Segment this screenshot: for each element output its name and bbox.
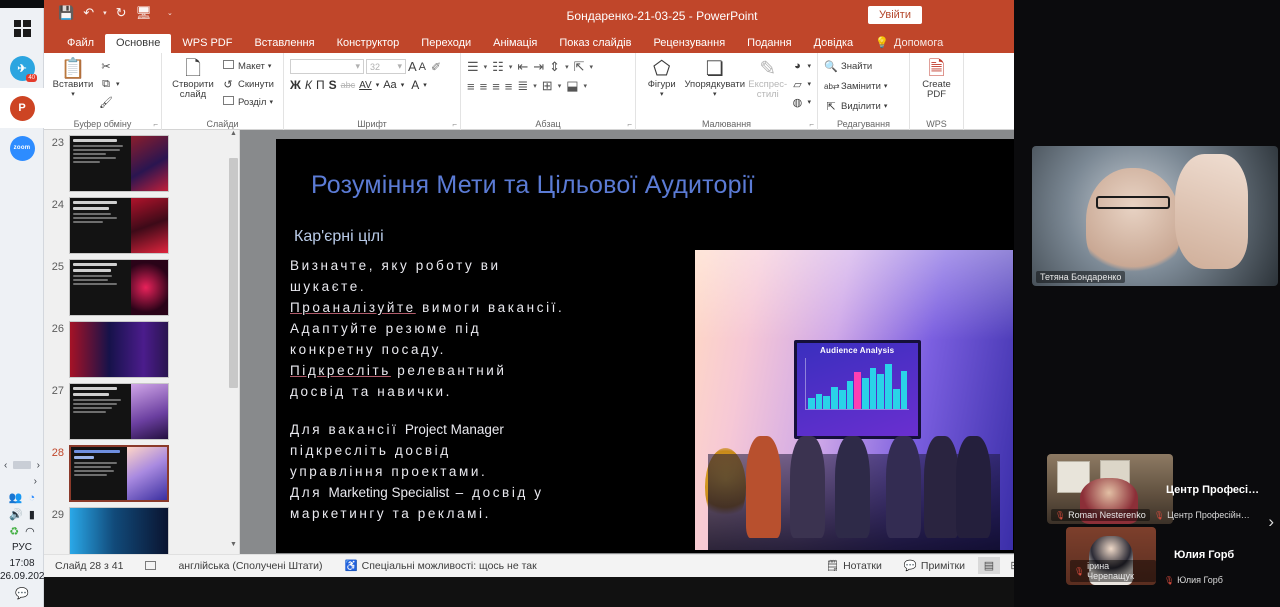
section-dropdown-icon[interactable]: ▾ [269, 98, 273, 106]
arrange-button[interactable]: ❏ Упорядкувати ▾ [684, 56, 745, 98]
paste-label: Вставити [53, 80, 94, 90]
reset-icon: ↺ [221, 78, 235, 91]
scrollbar-thumb[interactable] [229, 158, 238, 388]
tab-help[interactable]: Довідка [803, 34, 865, 53]
font-color-dropdown-icon[interactable]: ▾ [423, 81, 427, 89]
slide-photo-audience-analysis[interactable]: Audience Analysis [695, 250, 1013, 550]
quick-access-toolbar: 💾 ↶ ▾ ↻ 🖥 ⌄ [58, 6, 173, 19]
font-dialog-launcher[interactable]: ⌐ [452, 120, 457, 129]
copy-icon: ⧉ [99, 78, 113, 91]
line-spacing-button[interactable]: ⇕ [549, 59, 560, 75]
case-dropdown-icon[interactable]: ▾ [401, 81, 405, 89]
fill-icon: ◕ [790, 60, 804, 72]
slide-thumb-27[interactable]: 27 [44, 378, 239, 440]
start-button[interactable] [0, 8, 44, 48]
participant-name-overlay: 🎙 Roman Nesterenko [1051, 509, 1150, 521]
ribbon-group-clipboard: 📋 Вставити ▾ ✂ ⧉ ▾ 🖌 [44, 53, 162, 130]
quick-styles-label: Експрес-стилі [748, 80, 787, 100]
smartart-dropdown-icon[interactable]: ▾ [584, 82, 588, 90]
section-label: Розділ [238, 97, 266, 108]
slide-number: 29 [50, 507, 64, 521]
layout-label: Макет [238, 61, 265, 72]
ribbon-group-drawing: ⬠ Фігури ▾ ❏ Упорядкувати ▾ ✎ Експрес-ст… [636, 53, 818, 130]
select-label: Виділити [841, 101, 881, 112]
tab-transitions[interactable]: Переходи [410, 34, 482, 53]
scroll-down-arrow-icon[interactable]: ▼ [228, 541, 239, 554]
slide-thumbnail-pane[interactable]: 23 24 25 26 [44, 130, 240, 554]
shape-outline-button[interactable]: ▱▾ [790, 76, 811, 92]
justify-button[interactable]: ≡ [505, 79, 513, 94]
comments-button[interactable]: 💬 Примітки [893, 559, 976, 572]
shapes-icon: ⬠ [653, 58, 670, 80]
participant-list-name-center[interactable]: Центр Професі… [1166, 484, 1259, 496]
reset-label: Скинути [238, 79, 274, 90]
numbering-dropdown-icon[interactable]: ▾ [509, 63, 513, 71]
line-spacing-dropdown-icon[interactable]: ▾ [565, 63, 569, 71]
align-center-button[interactable]: ≡ [480, 79, 488, 94]
body1-line1b: шукаєте. [290, 279, 366, 294]
redo-icon[interactable]: ↻ [116, 6, 127, 19]
slide-thumbnail[interactable] [69, 383, 169, 440]
layout-icon [223, 60, 234, 69]
language-indicator[interactable]: РУС [0, 541, 44, 554]
shadow-button[interactable]: S [329, 78, 337, 92]
undo-dropdown-icon[interactable]: ▾ [103, 9, 107, 17]
slide-number: 27 [50, 383, 64, 397]
align-left-button[interactable]: ≡ [467, 79, 475, 94]
new-slide-icon: 🗋 [185, 58, 201, 80]
quick-styles-button[interactable]: ✎ Експрес-стилі [748, 56, 787, 100]
create-pdf-label: Create PDF [916, 80, 957, 100]
align-text-dropdown-icon[interactable]: ▾ [558, 82, 562, 90]
taskbar-item-telegram[interactable]: ✈ 40 [0, 48, 44, 88]
body1-line4-rest: релевантний [391, 363, 507, 378]
cursor-icon: ⇱ [824, 100, 838, 113]
slide-thumb-29[interactable]: 29 [44, 502, 239, 554]
participant-list-sub-yulia[interactable]: 🎙 Юлия Горб [1164, 575, 1223, 585]
group-title-wps: WPS [910, 119, 963, 129]
group-title-paragraph: Абзац [461, 119, 635, 129]
body1-line3a: Адаптуйте резюме під [290, 321, 481, 336]
photo-person [924, 436, 959, 538]
text-direction-button[interactable]: ⇱ [574, 59, 585, 75]
main-participant-name: Тетяна Бондаренко [1040, 272, 1121, 282]
body1-line3b: конкретну посаду. [290, 342, 446, 357]
align-right-button[interactable]: ≡ [492, 79, 500, 94]
group-title-editing: Редагування [818, 119, 909, 129]
accessibility-status[interactable]: ♿ Спеціальні можливості: щось не так [334, 559, 548, 572]
ceiling-gradient [695, 250, 1013, 340]
ribbon-group-wps: 🗎 Create PDF WPS [910, 53, 964, 130]
mic-muted-icon: 🎙 [1074, 567, 1084, 576]
tab-wps-pdf[interactable]: WPS PDF [171, 34, 243, 53]
photo-bar-chart [805, 358, 909, 410]
reset-button[interactable]: ↺ Скинути [221, 76, 274, 92]
tell-me-label: Допомога [894, 37, 943, 49]
language-status[interactable]: англійська (Сполучені Штати) [167, 560, 333, 572]
font-size-value: 32 [370, 62, 380, 72]
replace-button[interactable]: ab⇄ Замінити ▾ [824, 78, 887, 94]
start-presentation-icon[interactable]: 🖥 [136, 6, 153, 19]
body2-line1-latin: Project Manager [405, 422, 504, 437]
replace-label: Замінити [841, 81, 881, 92]
powerpoint-icon: P [10, 96, 35, 121]
slide-body-text-1[interactable]: Визначте, яку роботу ви шукаєте. Проанал… [290, 255, 710, 402]
body2-line5: маркетингу та рекламі. [290, 506, 491, 521]
smartart-button[interactable]: ⬓ [566, 78, 578, 94]
body1-line4-underlined: Підкресліть [290, 363, 391, 378]
copy-dropdown-icon[interactable]: ▾ [116, 80, 120, 88]
search-icon: 🔍 [824, 60, 838, 73]
body1-line2-underlined: Проаналізуйте [290, 300, 416, 315]
taskbar-top-strip [0, 0, 44, 8]
slide-thumbnail[interactable] [69, 259, 169, 316]
volume-icon[interactable]: 🔊 [9, 510, 23, 521]
slide-body-text-2[interactable]: Для вакансії Project Manager підкресліть… [290, 419, 720, 524]
tab-animations[interactable]: Анімація [482, 34, 548, 53]
columns-dropdown-icon[interactable]: ▾ [533, 82, 537, 90]
video-tile-iryna[interactable]: 🎙 ірина Черепащук [1066, 527, 1156, 585]
save-icon[interactable]: 💾 [58, 6, 74, 19]
photo-person [886, 436, 921, 538]
thumbnail-scrollbar[interactable]: ▲ ▼ [228, 130, 239, 554]
participant-list-sub-center[interactable]: 🎙 Центр Професійн… [1154, 510, 1250, 520]
tray-overflow-row[interactable]: ‹ › [0, 457, 44, 473]
teams-tray-icon[interactable]: 👥 [9, 493, 23, 504]
clear-formatting-button[interactable]: ✐ [431, 60, 441, 74]
windows-logo-icon [14, 20, 31, 37]
decrease-indent-button[interactable]: ⇤ [517, 59, 528, 75]
slide-number: 26 [50, 321, 64, 335]
effects-icon: ◍ [790, 96, 804, 109]
slide-thumb-23[interactable]: 23 [44, 130, 239, 192]
shape-fill-button[interactable]: ◕▾ [790, 58, 811, 74]
slide-thumb-26[interactable]: 26 [44, 316, 239, 378]
shapes-label: Фігури [648, 80, 676, 90]
tab-review[interactable]: Рецензування [642, 34, 736, 53]
tray-expand-icon[interactable]: › [34, 476, 37, 487]
participant-name-overlay: Тетяна Бондаренко [1036, 271, 1125, 283]
photo-person [956, 436, 991, 538]
underline-button[interactable]: П [316, 78, 325, 92]
increase-indent-button[interactable]: ⇥ [533, 59, 544, 75]
slide-number: 25 [50, 259, 64, 273]
shapes-button[interactable]: ⬠ Фігури ▾ [642, 56, 681, 98]
zoom-tray-icon[interactable]: ◔ [29, 493, 36, 504]
scroll-up-arrow-icon[interactable]: ▲ [228, 130, 239, 143]
cut-button[interactable]: ✂ [99, 58, 120, 74]
body1-line5: досвід та навички. [290, 384, 452, 399]
ribbon-group-paragraph: ☰▾ ☷▾ ⇤ ⇥ ⇕▾ ⇱▾ ≡ ≡ ≡ ≡ ≣▾ ⊞▾ ⬓▾ [461, 53, 636, 130]
system-tray: ‹ › › 👥 ◔ 🔊 ▮ ♻ ◠ РУС 17:08 26.09.202 [0, 457, 44, 607]
body1-line2-rest: вимоги вакансії. [416, 300, 565, 315]
battery-icon[interactable]: ▮ [29, 510, 35, 521]
body2-line4a: Для [290, 485, 328, 500]
spacing-dropdown-icon[interactable]: ▾ [376, 81, 380, 89]
mic-muted-icon: 🎙 [1154, 511, 1164, 520]
lightbulb-icon: 💡 [875, 36, 889, 49]
participant-tile-name: Roman Nesterenko [1068, 510, 1146, 520]
slide-thumbnail[interactable] [69, 135, 169, 192]
scissors-icon: ✂ [99, 60, 113, 73]
columns-button[interactable]: ≣ [517, 78, 528, 94]
customize-qat-icon[interactable]: ⌄ [167, 9, 173, 17]
tell-me-box[interactable]: 💡 Допомога [864, 33, 954, 53]
slide-thumb-25[interactable]: 25 [44, 254, 239, 316]
clock-date[interactable]: 26.09.2025 [0, 570, 44, 583]
new-slide-button[interactable]: 🗋 Створити слайд [168, 56, 218, 100]
body2-line2: підкресліть досвід [290, 443, 451, 458]
find-label: Знайти [841, 61, 872, 72]
next-page-chevron-icon[interactable]: › [1268, 512, 1274, 532]
taskbar-item-zoom[interactable]: zoom [0, 128, 44, 168]
bullets-button[interactable]: ☰ [467, 59, 479, 75]
layout-button[interactable]: Макет ▾ [221, 58, 274, 74]
replace-icon: ab⇄ [824, 82, 838, 91]
tab-home[interactable]: Основне [105, 34, 171, 53]
group-title-font: Шрифт [284, 119, 460, 129]
outline-icon: ▱ [790, 78, 804, 91]
select-dropdown-icon[interactable]: ▾ [884, 102, 888, 110]
notes-button[interactable]: 🗒 Нотатки [815, 559, 893, 572]
photo-screen-caption: Audience Analysis [820, 346, 894, 355]
normal-view-button[interactable]: ▤ [978, 557, 1000, 574]
update-icon[interactable]: ♻ [9, 527, 19, 538]
photo-person [835, 436, 870, 538]
ribbon-group-slides: 🗋 Створити слайд Макет ▾ ↺ Скинути [162, 53, 284, 130]
slide-counter[interactable]: Слайд 28 з 41 [44, 560, 134, 572]
find-button[interactable]: 🔍 Знайти [824, 58, 887, 74]
paintbrush-icon: 🖌 [99, 96, 113, 109]
slide-thumbnail[interactable] [69, 321, 169, 378]
font-name-input[interactable]: ▾ [290, 59, 364, 74]
arrange-label: Упорядкувати [684, 80, 745, 90]
shrink-font-button[interactable]: A [419, 61, 426, 73]
windows-taskbar: ✈ 40 P zoom ‹ › › 👥 ◔ 🔊 ▮ [0, 0, 44, 607]
drawing-dialog-launcher[interactable]: ⌐ [809, 120, 814, 129]
body2-line3: управління проектами. [290, 464, 487, 479]
wifi-icon[interactable]: ◠ [25, 527, 35, 538]
tab-insert[interactable]: Вставлення [243, 34, 325, 53]
strikethrough-button[interactable]: abc [341, 80, 356, 90]
meeting-room-photo: Audience Analysis [695, 250, 1013, 550]
telegram-badge: 40 [26, 74, 37, 82]
chevron-left-icon[interactable]: ‹ [4, 460, 7, 471]
undo-icon[interactable]: ↶ [83, 6, 94, 19]
grow-font-button[interactable]: A [408, 59, 417, 74]
pdf-icon: 🗎 [928, 58, 944, 80]
paragraph-dialog-launcher[interactable]: ⌐ [627, 120, 632, 129]
notes-label: Нотатки [843, 560, 882, 572]
zoom-meeting-panel: Тетяна Бондаренко 🎙 Roman Nesterenko 🎙 і… [1014, 0, 1280, 607]
slide-subtitle[interactable]: Кар'єрні цілі [294, 228, 384, 246]
photo-display-screen: Audience Analysis [794, 340, 921, 439]
quick-styles-icon: ✎ [759, 58, 776, 80]
group-title-drawing: Малювання [636, 119, 817, 129]
section-icon [223, 96, 234, 105]
arrange-dropdown-icon[interactable]: ▾ [713, 90, 717, 98]
accessibility-icon: ♿ [345, 559, 358, 572]
slide-thumbnail[interactable] [69, 507, 169, 554]
photo-person [790, 436, 825, 538]
slide-thumb-28[interactable]: 28 [44, 440, 239, 502]
video-tile-main-speaker[interactable]: Тетяна Бондаренко [1032, 146, 1278, 286]
font-size-input[interactable]: 32▾ [366, 59, 406, 74]
sign-in-button[interactable]: Увійти [868, 6, 922, 24]
ribbon-group-editing: 🔍 Знайти ab⇄ Замінити ▾ ⇱ Виділити ▾ [818, 53, 910, 130]
clipboard-dialog-launcher[interactable]: ⌐ [153, 120, 158, 129]
chevron-right-icon[interactable]: › [37, 460, 40, 471]
tab-design[interactable]: Конструктор [326, 34, 411, 53]
tab-slideshow[interactable]: Показ слайдів [548, 34, 642, 53]
slide-thumbnail[interactable] [69, 197, 169, 254]
copy-button[interactable]: ⧉ ▾ [99, 76, 120, 92]
arrange-icon: ❏ [706, 58, 724, 80]
new-slide-label: Створити слайд [168, 80, 218, 100]
tab-file[interactable]: Файл [56, 34, 105, 53]
font-color-button[interactable]: A [411, 78, 419, 92]
numbering-button[interactable]: ☷ [492, 59, 504, 75]
bullets-dropdown-icon[interactable]: ▾ [484, 63, 488, 71]
paste-icon: 📋 [61, 58, 86, 80]
body2-line4b: – досвід у [449, 485, 543, 500]
slide-number: 23 [50, 135, 64, 149]
tab-view[interactable]: Подання [736, 34, 802, 53]
ribbon-group-font: ▾ 32▾ A A ✐ Ж К П S abc [284, 53, 461, 130]
slide-thumbnail-selected[interactable] [69, 445, 169, 502]
zoom-icon: zoom [10, 136, 35, 161]
change-case-button[interactable]: Aa [383, 79, 396, 91]
participant-name-overlay: 🎙 ірина Черепащук [1070, 560, 1156, 582]
taskbar-item-powerpoint[interactable]: P [0, 88, 44, 128]
format-painter-button[interactable]: 🖌 [99, 94, 120, 110]
slide-title[interactable]: Розуміння Мети та Цільової Аудиторії [311, 171, 755, 200]
shape-effects-button[interactable]: ◍▾ [790, 94, 811, 110]
participant-list-name-yulia[interactable]: Юлия Горб [1174, 549, 1234, 561]
character-spacing-button[interactable]: AV [359, 80, 372, 91]
align-text-button[interactable]: ⊞ [542, 78, 553, 94]
comment-icon: 💬 [904, 559, 917, 572]
group-title-clipboard: Буфер обміну [44, 119, 161, 129]
photo-person [746, 436, 781, 538]
group-title-slides: Слайди [162, 119, 283, 129]
notifications-icon[interactable]: 💬 [15, 589, 29, 600]
slide-number: 24 [50, 197, 64, 211]
clock-time[interactable]: 17:08 [0, 557, 44, 570]
slide-number: 28 [50, 445, 64, 459]
mic-muted-icon: 🎙 [1055, 511, 1065, 520]
section-button[interactable]: Розділ ▾ [221, 94, 274, 110]
slide-thumb-24[interactable]: 24 [44, 192, 239, 254]
notes-icon: 🗒 [826, 559, 839, 572]
participant-tile-name: ірина Черепащук [1087, 561, 1152, 581]
bold-button[interactable]: Ж [290, 78, 301, 92]
italic-button[interactable]: К [305, 78, 312, 92]
spellcheck-icon[interactable] [134, 561, 167, 570]
layout-dropdown-icon[interactable]: ▾ [268, 62, 272, 70]
body2-line1a: Для вакансії [290, 422, 405, 437]
text-direction-dropdown-icon[interactable]: ▾ [589, 63, 593, 71]
current-slide[interactable]: Розуміння Мети та Цільової Аудиторії Кар… [276, 139, 1065, 553]
mic-muted-icon: 🎙 [1164, 576, 1174, 585]
select-button[interactable]: ⇱ Виділити ▾ [824, 98, 887, 114]
shapes-dropdown-icon[interactable]: ▾ [660, 90, 664, 98]
replace-dropdown-icon[interactable]: ▾ [884, 82, 888, 90]
body1-line1a: Визначте, яку роботу ви [290, 258, 501, 273]
comments-label: Примітки [921, 560, 965, 572]
accessibility-label: Спеціальні можливості: щось не так [362, 560, 537, 572]
paste-dropdown-icon[interactable]: ▾ [71, 90, 75, 98]
paste-button[interactable]: 📋 Вставити ▾ [50, 56, 96, 98]
body2-line4-latin: Marketing Specialist [328, 485, 449, 500]
create-pdf-button[interactable]: 🗎 Create PDF [916, 56, 957, 100]
tray-pill [13, 461, 31, 469]
